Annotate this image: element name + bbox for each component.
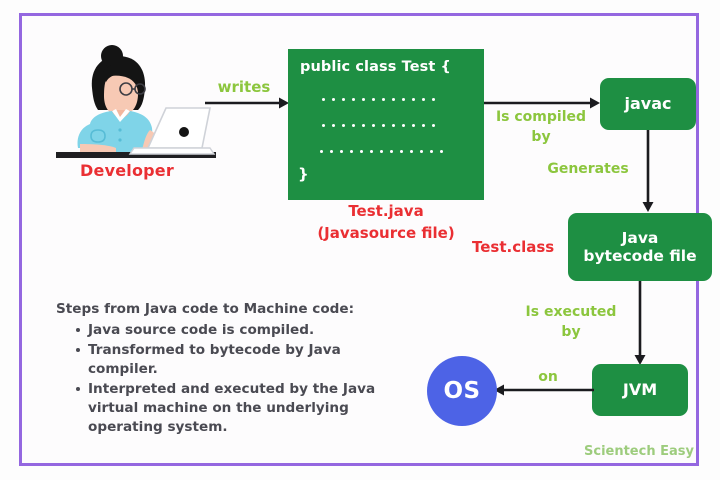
code-dot-row [322, 115, 484, 135]
arrow-on [492, 383, 594, 397]
diagram-canvas: Developer writes public class Test { [0, 0, 720, 480]
node-operating-system[interactable]: OS [427, 356, 497, 426]
watermark: Scientech Easy [584, 444, 694, 459]
node-java-bytecode-file[interactable]: Java bytecode file [568, 213, 712, 281]
edge-label-on: on [528, 369, 568, 385]
list-item: Interpreted and executed by the Java vir… [76, 380, 408, 437]
node-jvm[interactable]: JVM [592, 364, 688, 416]
arrow-writes [205, 96, 291, 110]
node-bytecode-line1: Java [622, 229, 659, 247]
edge-label-line: by [531, 129, 550, 145]
code-header: public class Test { [300, 59, 484, 75]
developer-at-laptop-illustration [50, 44, 230, 169]
arrow-is-executed-by [633, 281, 647, 367]
node-os-label: OS [443, 378, 480, 404]
node-bytecode-line2: bytecode file [583, 247, 696, 265]
edge-label-generates: Generates [538, 161, 638, 177]
code-dot-row [322, 89, 484, 109]
node-javac-label: javac [625, 95, 672, 114]
list-item: Java source code is compiled. [76, 321, 408, 340]
steps-section: Steps from Java code to Machine code: Ja… [56, 300, 408, 438]
steps-title: Steps from Java code to Machine code: [56, 300, 408, 319]
diagram-frame: Developer writes public class Test { [19, 13, 699, 466]
steps-list: Java source code is compiled. Transforme… [56, 321, 408, 437]
edge-label-line: Is executed [526, 304, 617, 320]
code-closing-brace: } [298, 165, 484, 183]
list-item: Transformed to bytecode by Java compiler… [76, 341, 408, 379]
edge-label-line: Is compiled [496, 109, 586, 125]
java-source-code-box: public class Test { } [288, 49, 484, 200]
edge-label-writes: writes [208, 78, 280, 96]
edge-label-is-compiled-by: Is compiled by [482, 107, 600, 148]
node-bytecode-label: Java bytecode file [583, 229, 696, 266]
caption-test-java: Test.java [288, 202, 484, 220]
caption-java-source-file: (Javasource file) [278, 224, 494, 242]
arrow-generates [641, 130, 655, 214]
code-dot-row [320, 141, 484, 161]
caption-test-class: Test.class [472, 238, 582, 256]
edge-label-is-executed-by: Is executed by [512, 302, 630, 343]
edge-label-line: by [561, 324, 580, 340]
node-jvm-label: JVM [623, 381, 657, 400]
developer-label: Developer [52, 161, 202, 180]
node-javac[interactable]: javac [600, 78, 696, 130]
